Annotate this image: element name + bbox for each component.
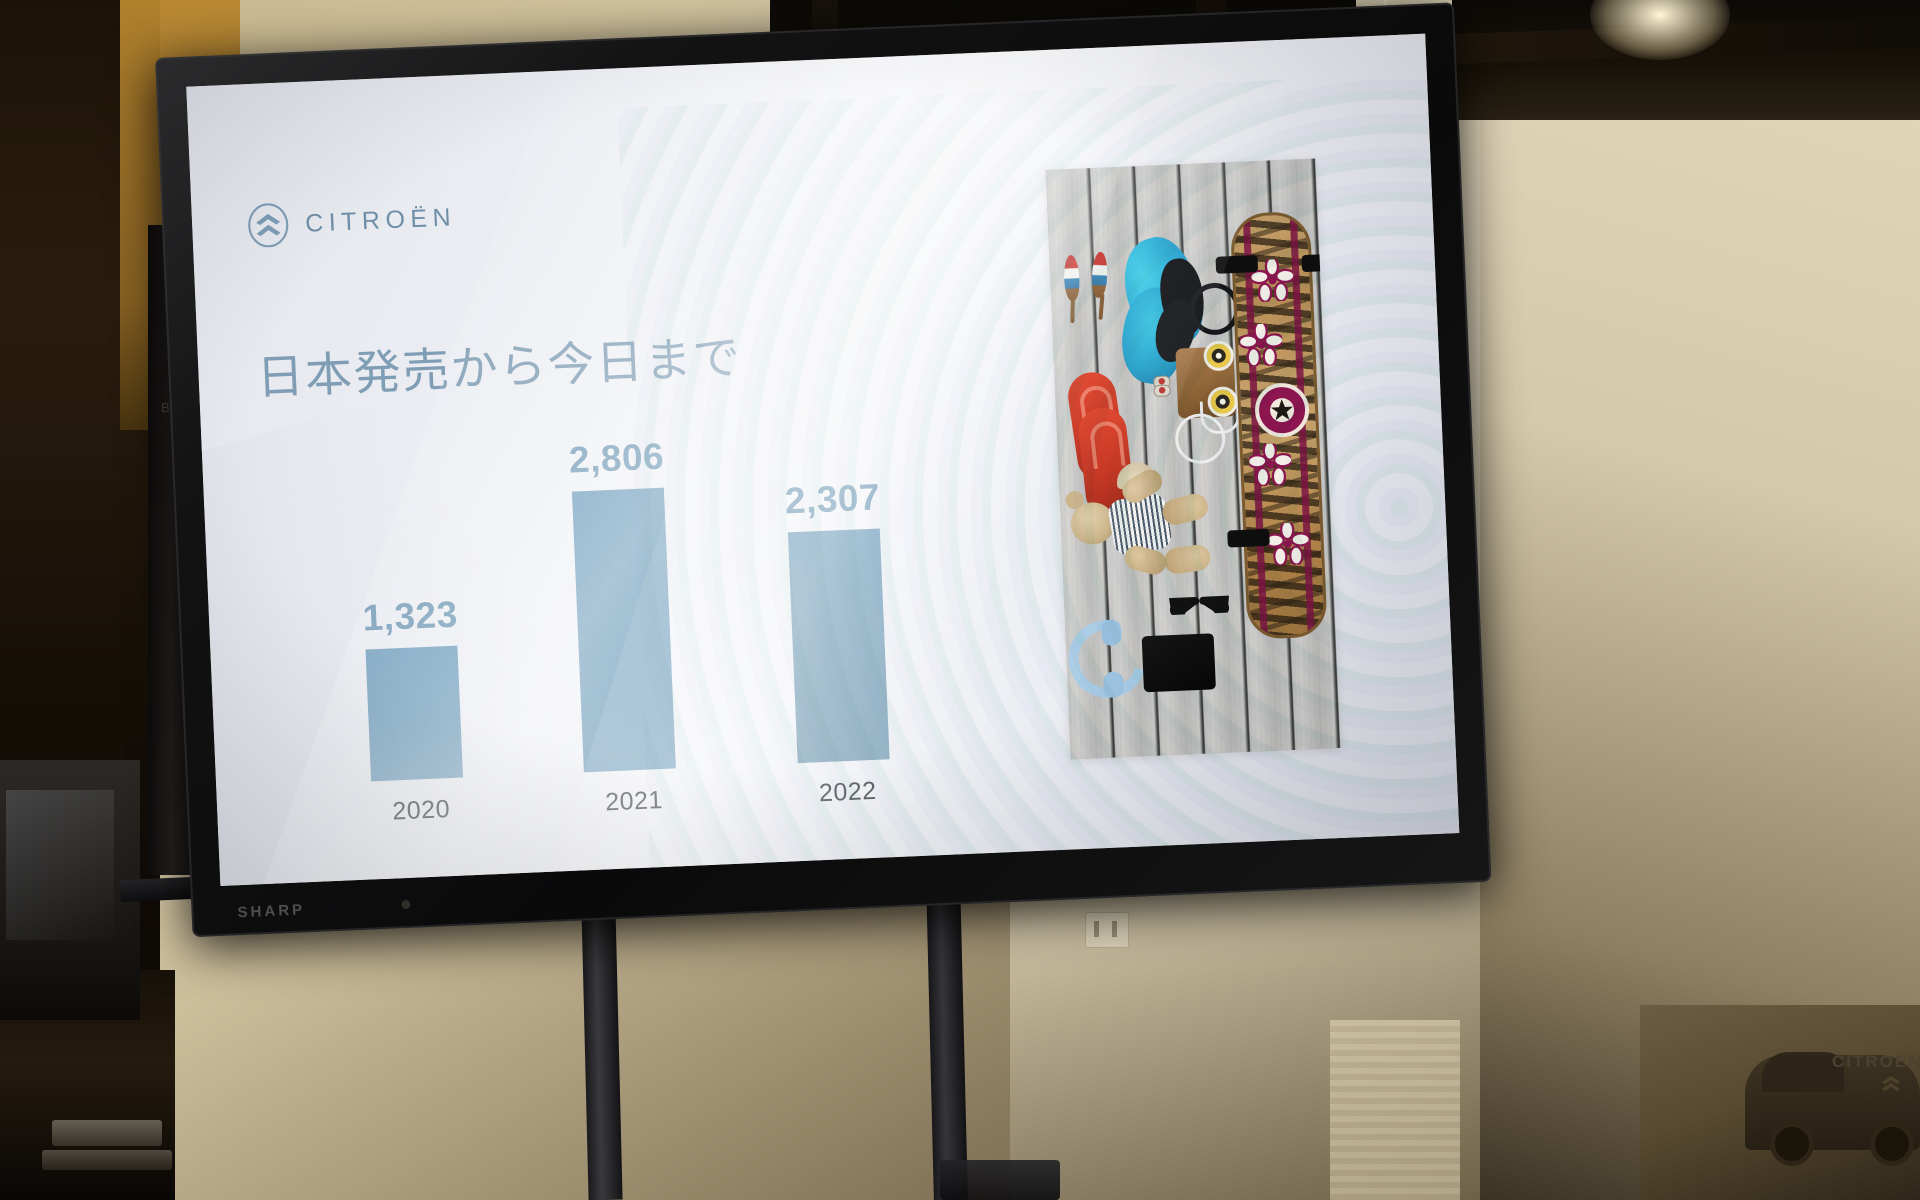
- bar-category-label-2020: 2020: [392, 795, 451, 826]
- poster-brand-label: CITROËN: [1832, 1052, 1920, 1072]
- presentation-slide: CITROËN 日本発売から今日まで 1,32320202,80620212,3…: [186, 34, 1459, 886]
- tv-stand-pole-left: [581, 905, 622, 1200]
- bar-chart: 1,32320202,80620212,3072022: [320, 383, 998, 841]
- room-scene: BOSE CITROËN SHARP: [0, 0, 1920, 1200]
- longboard-wall-clip-bottom: [1227, 529, 1270, 548]
- citroen-logo-text: CITROËN: [305, 203, 457, 238]
- 3d-glasses-icon: [1152, 372, 1193, 398]
- poster-car-wheel-rear: [1870, 1122, 1914, 1166]
- tv-stand-foot: [940, 1160, 1060, 1200]
- sharp-display: SHARP CITROËN 日本発売から今日まで 1,32320202,8062…: [155, 2, 1491, 937]
- poster-chevron-icon: [1880, 1075, 1902, 1093]
- bar-rect-2022: [788, 528, 890, 763]
- maraca-left-handle: [1070, 297, 1075, 323]
- bar-rect-2021: [572, 488, 676, 773]
- citroen-logo: CITROËN: [246, 195, 457, 248]
- bar-value-label-2022: 2,307: [784, 476, 881, 522]
- wall-power-outlet: [1085, 912, 1129, 948]
- flip-flop-right-strap: [1089, 420, 1126, 469]
- black-tablet: [1142, 633, 1216, 692]
- shelf-object-upper: [52, 1120, 162, 1146]
- tv-brand-label: SHARP: [237, 901, 305, 921]
- longboard-wall-clip-right: [1301, 253, 1340, 272]
- longboard-wall-clip-top: [1215, 255, 1258, 274]
- bar-value-label-2020: 1,323: [362, 594, 459, 640]
- background-monitor-glare: [6, 790, 114, 940]
- window-blind-panel-bottom: [1330, 1020, 1460, 1200]
- shelf-object-lower: [42, 1150, 172, 1170]
- longboard-flower-3: [1249, 443, 1293, 487]
- tv-screen[interactable]: CITROËN 日本発売から今日まで 1,32320202,80620212,3…: [186, 34, 1459, 886]
- poster-car-wheel-front: [1770, 1122, 1814, 1166]
- camera-lens-top: [1203, 340, 1234, 371]
- sunglasses-icon: [1168, 593, 1231, 616]
- bar-rect-2020: [365, 646, 463, 782]
- slide-title: 日本発売から今日まで: [255, 318, 743, 408]
- bar-group-2021: 2,806: [570, 436, 676, 773]
- bar-group-2022: 2,307: [786, 476, 890, 763]
- bar-value-label-2021: 2,806: [568, 436, 665, 482]
- longboard-flower-4: [1266, 522, 1310, 566]
- headphone-earcup-bottom: [1103, 671, 1124, 698]
- bar-group-2020: 1,323: [363, 594, 463, 782]
- citroen-chevron-icon: [246, 202, 290, 248]
- star-icon: [1267, 396, 1296, 425]
- bar-category-label-2022: 2022: [818, 777, 877, 808]
- longboard-flower-2: [1239, 323, 1283, 367]
- headphone-earcup-top: [1101, 619, 1122, 646]
- beach-flatlay-photo: [1046, 158, 1341, 759]
- bar-category-label-2021: 2021: [605, 786, 664, 817]
